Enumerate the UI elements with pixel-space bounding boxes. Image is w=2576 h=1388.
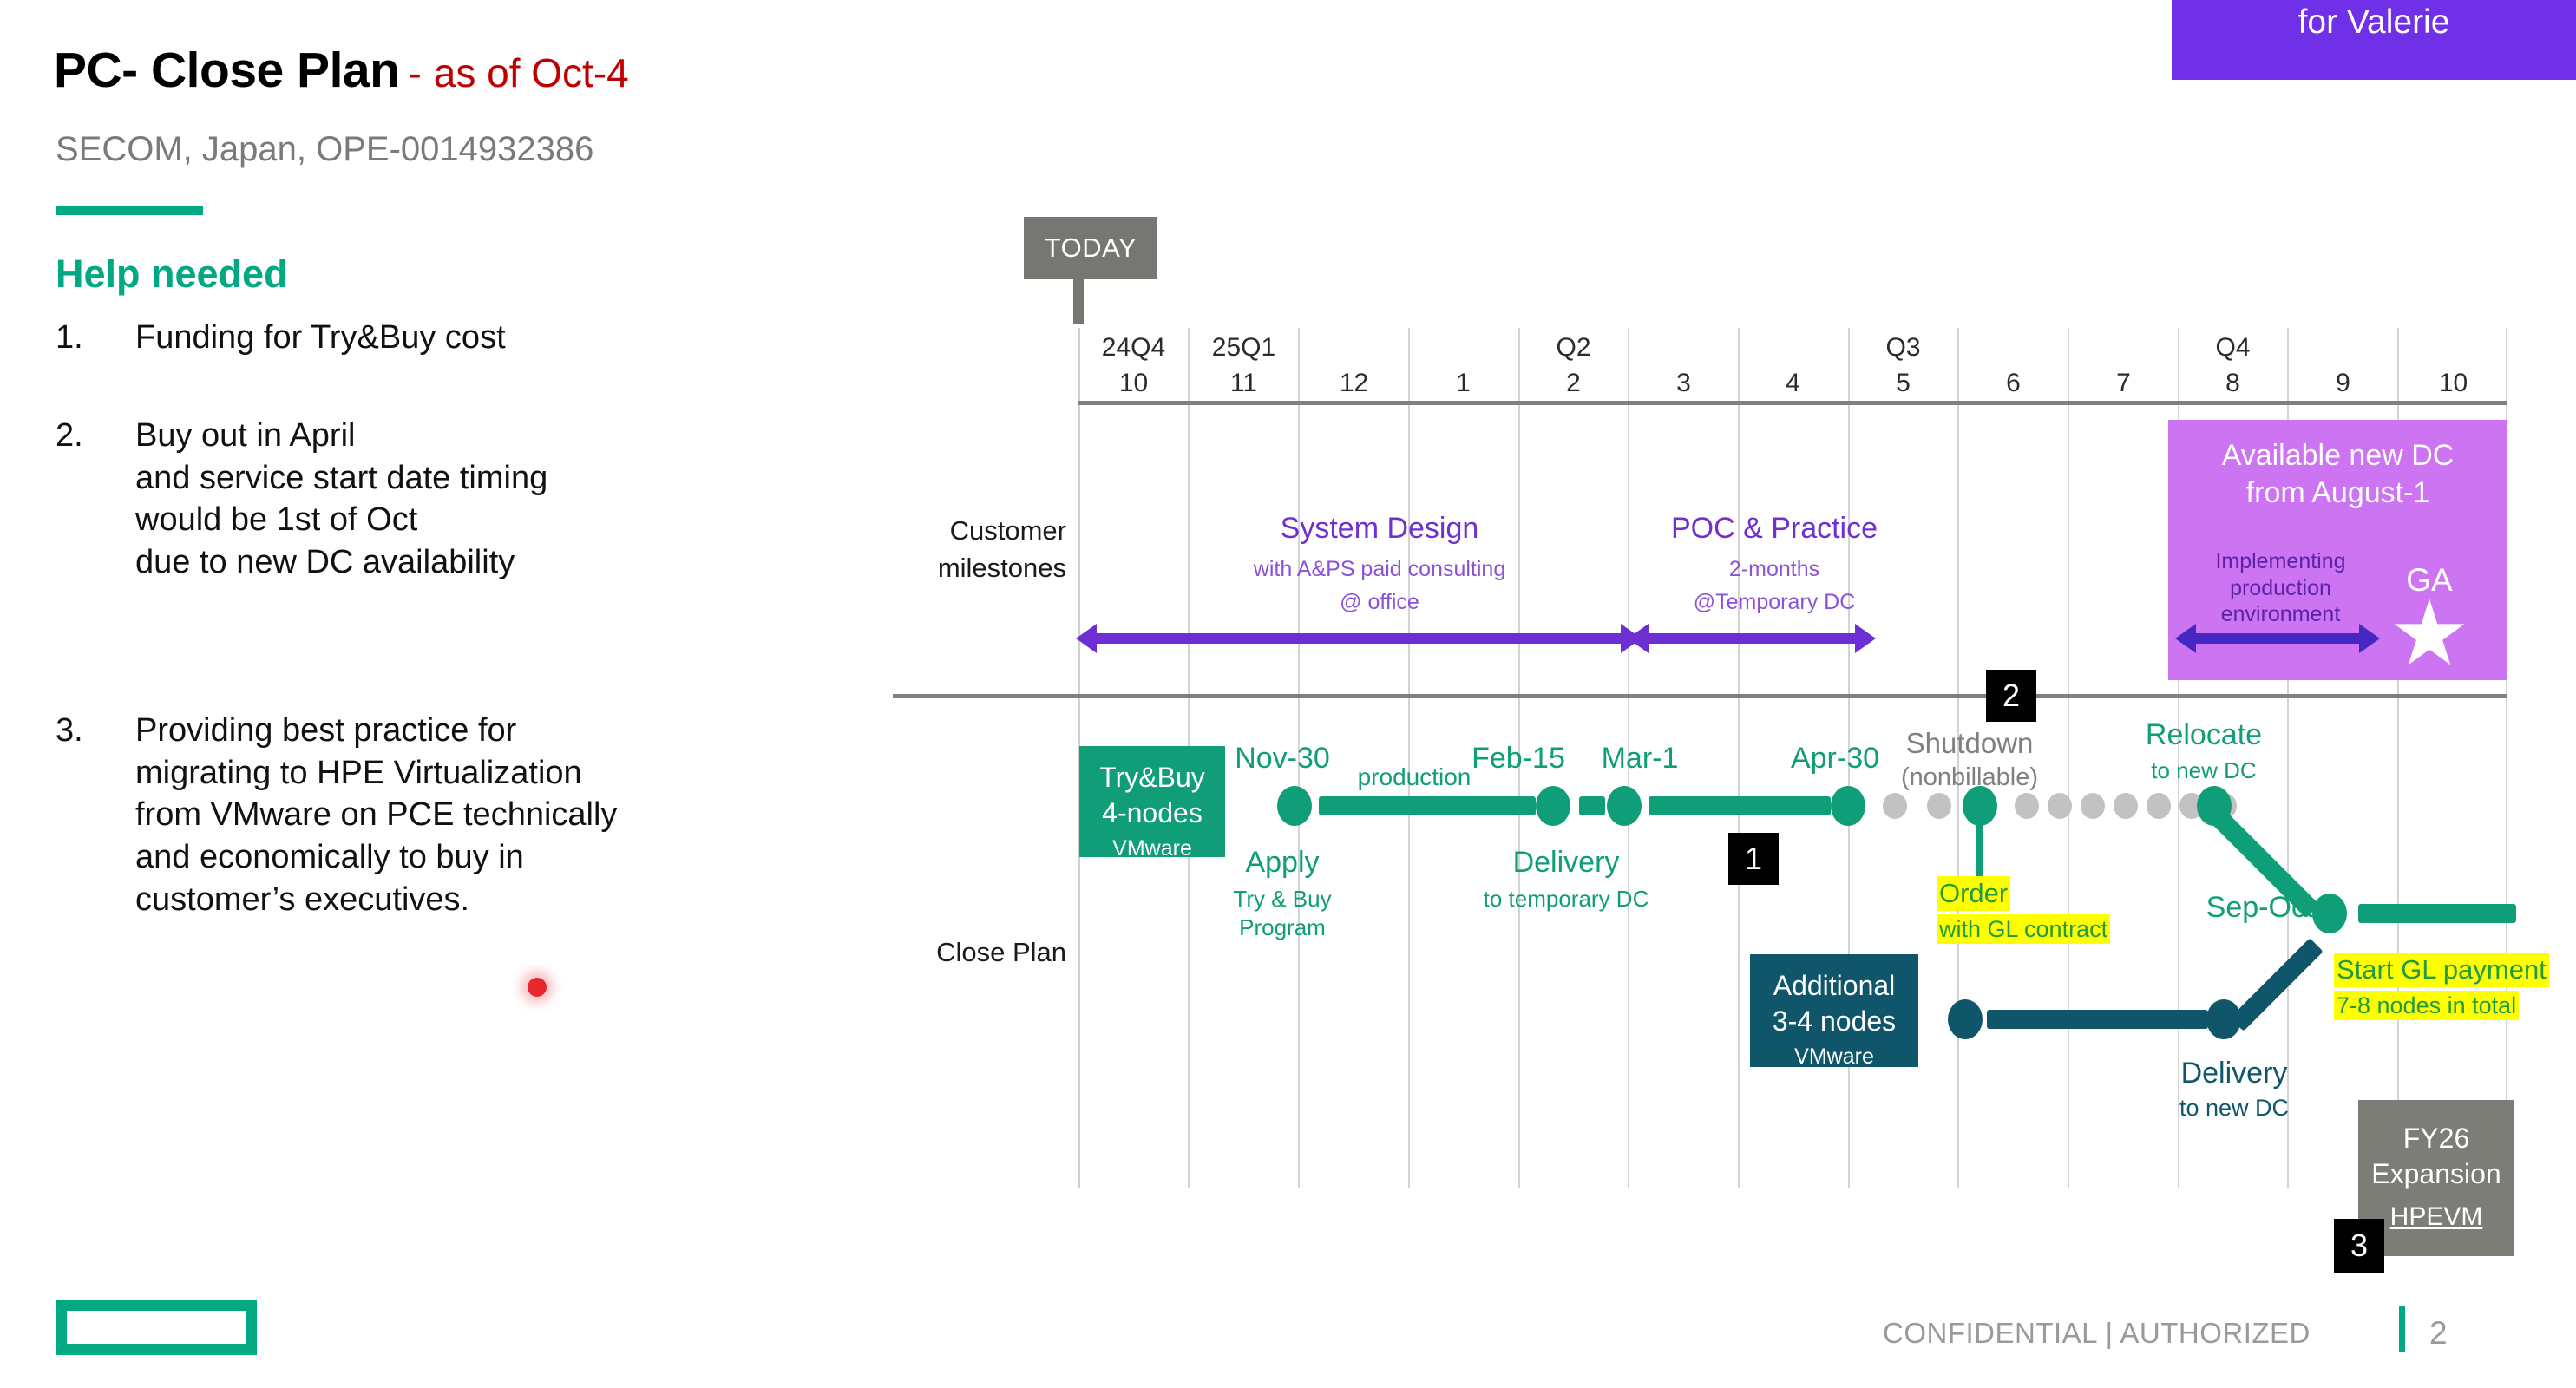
order-highlight: Order with GL contract [1937, 876, 2110, 945]
quarter-label: Q3 [1849, 333, 1957, 363]
order-highlight-line1: Order [1937, 876, 2010, 911]
delivery-new-dc-sub: to new DC [2108, 1095, 2360, 1122]
accent-divider [56, 206, 203, 215]
quarter-label: 24Q4 [1079, 333, 1188, 363]
shutdown-sub: (nonbillable) [1857, 763, 2082, 792]
additional-box-line1: Additional [1750, 968, 1918, 1004]
dotted-marker [2114, 793, 2138, 819]
milestone-dot-apr30 [1831, 786, 1865, 826]
milestone-dot-feb15 [1536, 786, 1570, 826]
row-label-close-plan: Close Plan [893, 937, 1066, 968]
shutdown-title: Shutdown [1857, 727, 2082, 760]
title-dash: - [399, 50, 421, 95]
bar-feb15-mar1 [1579, 796, 1605, 815]
additional-start-dot [1948, 999, 1983, 1039]
bar-nov30-feb15 [1319, 796, 1536, 815]
ga-label: GA [2377, 562, 2481, 599]
poc-practice-sub2: @Temporary DC [1601, 588, 1948, 617]
month-label: 6 [1959, 369, 2068, 398]
fy26-box-line2: Expansion [2358, 1156, 2514, 1192]
month-label: 10 [2399, 369, 2507, 398]
dotted-marker [2147, 793, 2171, 819]
quarter-label: Q2 [1519, 333, 1628, 363]
order-highlight-line2: with GL contract [1937, 914, 2110, 945]
badge-2: 2 [1986, 670, 2036, 722]
bar-additional-delivery [1987, 1010, 2208, 1029]
fy26-box-line1: FY26 [2358, 1121, 2514, 1156]
month-label: 10 [1079, 369, 1188, 398]
dotted-marker [2081, 793, 2105, 819]
list-item-text: Providing best practice for migrating to… [135, 710, 923, 920]
mouse-cursor-indicator [528, 978, 547, 997]
section-heading: Help needed [56, 252, 288, 297]
apply-title: Apply [1178, 846, 1386, 880]
list-item: 3. Providing best practice for migrating… [56, 710, 923, 920]
list-item-number: 3. [56, 710, 109, 752]
hpe-logo [56, 1300, 257, 1355]
valerie-banner-line2: for Valerie [2172, 3, 2576, 42]
today-flag-label: TODAY [1045, 232, 1137, 264]
list-item-number: 2. [56, 415, 109, 457]
gl-payment-highlight: Start GL payment 7-8 nodes in total [2334, 953, 2549, 1021]
timeline-header-rule [1078, 401, 2507, 405]
available-new-dc-title: Available new DC from August-1 [2168, 437, 2507, 511]
title-main: PC- Close Plan [54, 43, 399, 98]
relocate-sub: to new DC [2091, 756, 2317, 785]
valerie-banner: as of October-4 for Valerie [2172, 0, 2576, 80]
additional-nodes-box: Additional 3-4 nodes VMware [1750, 954, 1918, 1067]
page-title: PC- Close Plan-as of Oct-4 [54, 42, 965, 99]
quarter-label: Q4 [2179, 333, 2287, 363]
milestone-date-mar1: Mar-1 [1536, 742, 1744, 776]
list-item: 2. Buy out in April and service start da… [56, 415, 923, 584]
dotted-marker [1927, 793, 1951, 819]
available-new-dc-sub: Implementing production environment [2174, 548, 2387, 628]
trybuy-box-line2: 4-nodes [1079, 795, 1225, 831]
month-label: 5 [1849, 369, 1957, 398]
month-label: 3 [1629, 369, 1738, 398]
poc-practice-title: POC & Practice [1601, 512, 1948, 546]
badge-3: 3 [2334, 1219, 2384, 1273]
month-label: 4 [1739, 369, 1847, 398]
milestone-dot-shutdown [1963, 786, 1997, 826]
additional-box-line2: 3-4 nodes [1750, 1004, 1918, 1039]
list-item-text: Funding for Try&Buy cost [135, 317, 923, 359]
list-item-number: 1. [56, 317, 109, 359]
delivery-temp-sub: to temporary DC [1436, 885, 1696, 913]
bar-mar1-apr30 [1649, 796, 1831, 815]
gl-payment-line1: Start GL payment [2334, 953, 2549, 987]
dotted-marker [2015, 793, 2039, 819]
month-label: 8 [2179, 369, 2287, 398]
month-label: 12 [1300, 369, 1408, 398]
quarter-label: 25Q1 [1190, 333, 1298, 363]
system-design-sub2: @ office [1154, 588, 1605, 617]
footer-confidential: CONFIDENTIAL | AUTHORIZED [1883, 1317, 2311, 1350]
apply-sub: Try & Buy Program [1178, 885, 1386, 941]
poc-practice-arrow [1647, 633, 1857, 644]
row-label-customer: Customer milestones [893, 512, 1066, 587]
timeline-middle-rule [893, 694, 2507, 698]
dotted-marker [2048, 793, 2072, 819]
list-item: 1. Funding for Try&Buy cost [56, 317, 923, 359]
system-design-title: System Design [1154, 512, 1605, 546]
today-flag-stem [1073, 279, 1084, 324]
month-label: 7 [2069, 369, 2178, 398]
available-new-dc-arrow [2194, 633, 2361, 644]
title-asof: as of Oct-4 [422, 50, 629, 95]
footer-divider [2399, 1306, 2405, 1352]
delivery-new-dc-title: Delivery [2108, 1057, 2360, 1090]
bar-gl-payment [2358, 904, 2516, 923]
system-design-arrow [1095, 633, 1622, 644]
gl-payment-line2: 7-8 nodes in total [2334, 991, 2519, 1021]
subtitle: SECOM, Japan, OPE-0014932386 [56, 130, 593, 169]
milestone-dot-nov30 [1277, 786, 1312, 826]
badge-1: 1 [1728, 833, 1779, 885]
today-flag: TODAY [1024, 217, 1157, 279]
month-label: 11 [1190, 369, 1298, 398]
month-label: 2 [1519, 369, 1628, 398]
dotted-marker [1883, 793, 1907, 819]
month-label: 1 [1409, 369, 1517, 398]
list-item-text: Buy out in April and service start date … [135, 415, 923, 584]
junction-dot [2312, 894, 2347, 933]
additional-box-line3: VMware [1750, 1044, 1918, 1070]
relocate-title: Relocate [2091, 718, 2317, 752]
system-design-sub1: with A&PS paid consulting [1154, 555, 1605, 584]
delivery-temp-title: Delivery [1436, 846, 1696, 880]
milestone-dot-mar1 [1607, 786, 1642, 826]
poc-practice-sub1: 2-months [1601, 555, 1948, 584]
month-label: 9 [2289, 369, 2397, 398]
footer-page-number: 2 [2429, 1315, 2448, 1352]
